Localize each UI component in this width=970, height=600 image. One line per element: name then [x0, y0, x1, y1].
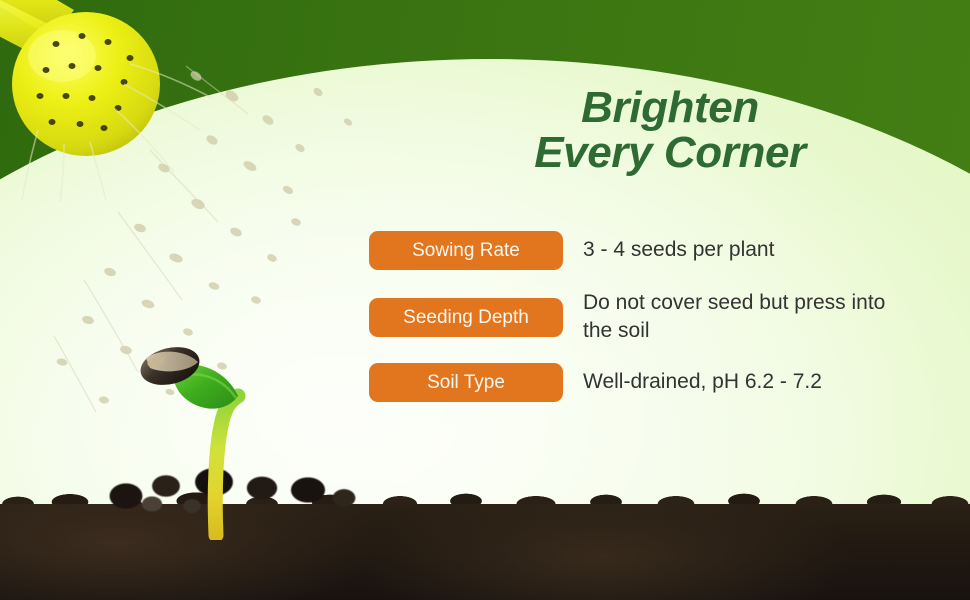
- badge-soil-type: Soil Type: [369, 363, 563, 402]
- page-title: Brighten Every Corner: [460, 86, 880, 176]
- list-item: Sowing Rate 3 - 4 seeds per plant: [369, 231, 929, 270]
- badge-seeding-depth: Seeding Depth: [369, 298, 563, 337]
- list-item: Seeding Depth Do not cover seed but pres…: [369, 289, 929, 344]
- plant-care-banner: Brighten Every Corner Sowing Rate 3 - 4 …: [0, 0, 970, 600]
- watering-can-rose-icon: [0, 0, 250, 202]
- list-item: Soil Type Well-drained, pH 6.2 - 7.2: [369, 363, 929, 402]
- value-seeding-depth: Do not cover seed but press into the soi…: [583, 289, 903, 344]
- value-soil-type: Well-drained, pH 6.2 - 7.2: [583, 363, 822, 396]
- headline-line-1: Brighten: [581, 83, 759, 132]
- plant-info-list: Sowing Rate 3 - 4 seeds per plant Seedin…: [369, 231, 929, 402]
- seedling-sprout-icon: [120, 330, 320, 540]
- badge-sowing-rate: Sowing Rate: [369, 231, 563, 270]
- value-sowing-rate: 3 - 4 seeds per plant: [583, 231, 774, 264]
- headline-line-2: Every Corner: [460, 131, 880, 176]
